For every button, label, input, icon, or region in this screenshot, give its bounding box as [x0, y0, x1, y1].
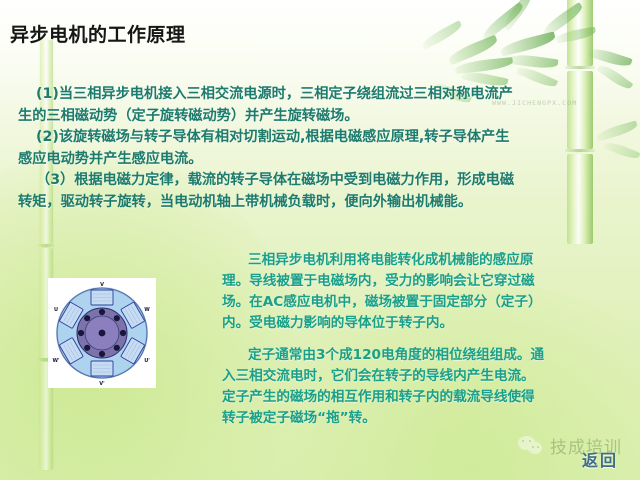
- paragraph-line: 定子通常由3个成120电角度的相位绕组组成。通: [222, 345, 622, 366]
- page-title: 异步电机的工作原理: [10, 20, 186, 47]
- paragraph-line: 内。受电磁力影响的导体位于转子内。: [222, 313, 622, 334]
- paragraph-line: 入三相交流电时，它们会在转子的导线内产生电流。: [222, 366, 622, 387]
- paragraph-line: 理。导线被置于电磁场内，受力的影响会让它穿过磁: [222, 271, 622, 292]
- motor-label-w: W: [144, 307, 150, 313]
- motor-cross-section-figure: V W U' V' W' U: [48, 278, 156, 388]
- body-text-top: (1)当三相异步电机接入三相交流电源时，三相定子绕组流过三相对称电流产 生的三相…: [18, 84, 622, 213]
- paragraph-line: 转子被定子磁场“拖”转。: [222, 408, 622, 429]
- paragraph-line: 转矩，驱动转子旋转，当电动机轴上带机械负载时，便向外输出机械能。: [18, 192, 622, 214]
- paragraph-line: 感应电动势并产生感应电流。: [18, 149, 622, 171]
- paragraph-line: 场。在AC感应电机中，磁场被置于固定部分（定子）: [222, 292, 622, 313]
- motor-label-u-prime: U': [144, 358, 150, 364]
- paragraph-spacer: [222, 334, 622, 345]
- motor-label-u: U: [54, 307, 58, 313]
- paragraph-line: 定子产生的磁场的相互作用和转子内的载流导线使得: [222, 387, 622, 408]
- paragraph-line: (2)该旋转磁场与转子导体有相对切割运动,根据电磁感应原理,转子导体产生: [18, 127, 622, 149]
- paragraph-line: 生的三相磁动势（定子旋转磁动势）并产生旋转磁场。: [18, 106, 622, 128]
- return-button[interactable]: 返回: [582, 447, 618, 471]
- motor-label-v-prime: V': [99, 381, 105, 387]
- paragraph-line: 三相异步电机利用将电能转化成机械能的感应原: [222, 250, 622, 271]
- paragraph-line: (1)当三相异步电机接入三相交流电源时，三相定子绕组流过三相对称电流产: [18, 84, 622, 106]
- slide-canvas: 异步电机的工作原理 WWW.JICHENGPX.COM (1)当三相异步电机接入…: [0, 0, 640, 480]
- wechat-icon: [518, 436, 544, 456]
- motor-label-v: V: [100, 282, 104, 288]
- body-text-bottom: 三相异步电机利用将电能转化成机械能的感应原 理。导线被置于电磁场内，受力的影响会…: [222, 250, 622, 429]
- paragraph-line: （3）根据电磁力定律，载流的转子导体在磁场中受到电磁力作用，形成电磁: [18, 170, 622, 192]
- motor-diagram-svg: V W U' V' W' U: [48, 278, 156, 388]
- motor-label-w-prime: W': [52, 358, 60, 364]
